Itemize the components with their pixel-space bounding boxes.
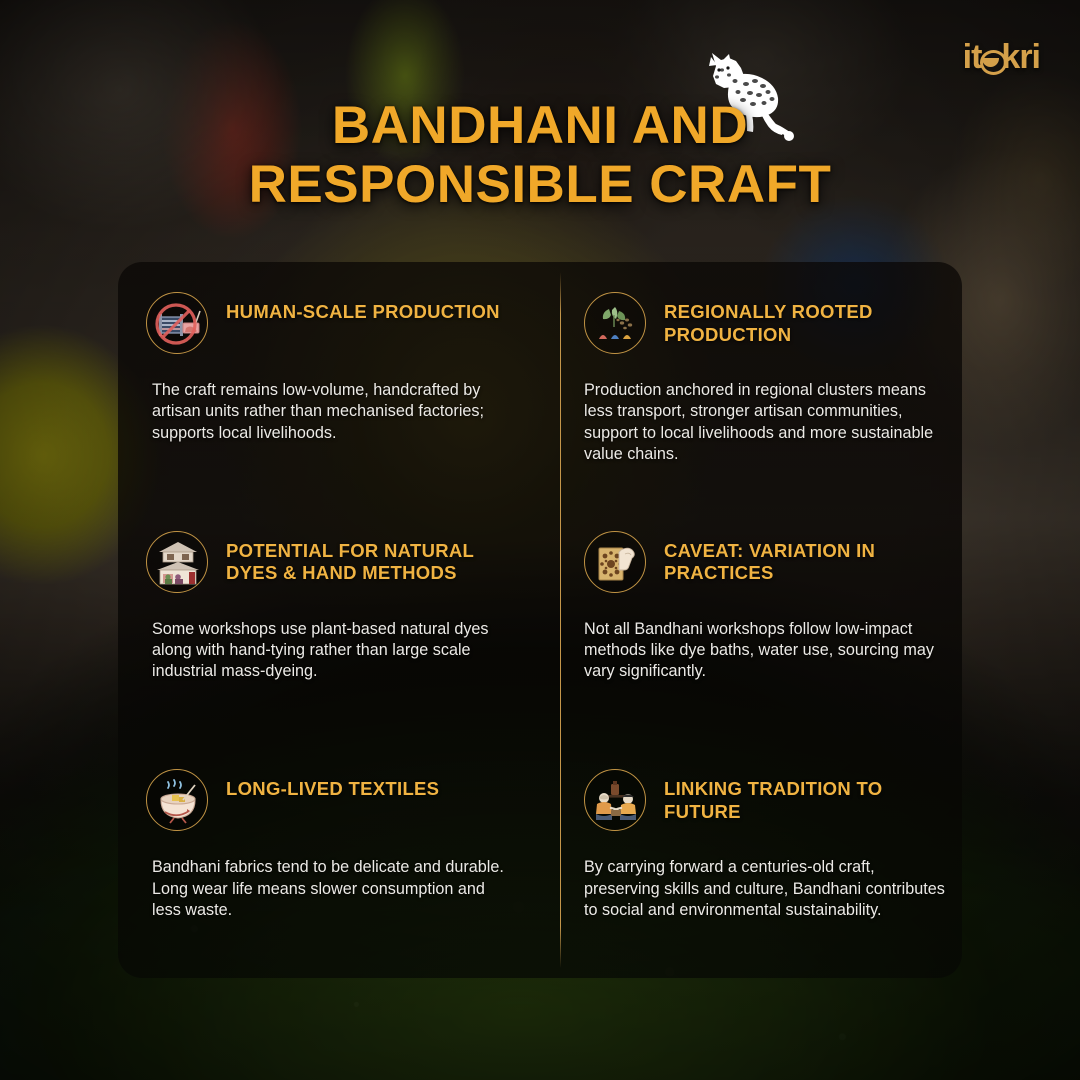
card-title: LONG-LIVED TEXTILES — [226, 769, 439, 801]
card-title: HUMAN-SCALE PRODUCTION — [226, 292, 500, 324]
cards-grid: HUMAN-SCALE PRODUCTION The craft remains… — [118, 262, 962, 978]
card-header: REGIONALLY ROOTED PRODUCTION — [584, 292, 946, 354]
card-title: REGIONALLY ROOTED PRODUCTION — [664, 292, 946, 346]
steaming-dye-pot-icon — [146, 769, 208, 831]
card-caveat-variation-practices: CAVEAT: VARIATION IN PRACTICES Not all B… — [540, 501, 962, 740]
itokri-logo[interactable]: itkri — [963, 40, 1040, 74]
logo-text-after: kri — [1001, 38, 1040, 76]
card-title: LINKING TRADITION TO FUTURE — [664, 769, 946, 823]
card-header: HUMAN-SCALE PRODUCTION — [146, 292, 514, 354]
logo-text-before: it — [963, 38, 982, 76]
card-body: Some workshops use plant-based natural d… — [152, 619, 514, 683]
card-body: Production anchored in regional clusters… — [584, 380, 946, 466]
card-header: CAVEAT: VARIATION IN PRACTICES — [584, 531, 946, 593]
card-body: Not all Bandhani workshops follow low-im… — [584, 619, 946, 683]
card-natural-dyes-hand-methods: POTENTIAL FOR NATURAL DYES & HAND METHOD… — [118, 501, 540, 740]
card-header: LONG-LIVED TEXTILES — [146, 769, 514, 831]
two-artisans-seated-icon — [584, 769, 646, 831]
hand-holding-patterned-fabric-icon — [584, 531, 646, 593]
card-body: The craft remains low-volume, handcrafte… — [152, 380, 514, 444]
card-header: LINKING TRADITION TO FUTURE — [584, 769, 946, 831]
basket-bowl-icon — [980, 48, 1002, 70]
no-machine-loom-icon — [146, 292, 208, 354]
card-body: By carrying forward a centuries-old craf… — [584, 857, 946, 921]
card-long-lived-textiles: LONG-LIVED TEXTILES Bandhani fabrics ten… — [118, 739, 540, 978]
card-linking-tradition-to-future: LINKING TRADITION TO FUTURE By carrying … — [540, 739, 962, 978]
workshop-building-icon — [146, 531, 208, 593]
card-header: POTENTIAL FOR NATURAL DYES & HAND METHOD… — [146, 531, 514, 593]
seedling-dye-mounds-icon — [584, 292, 646, 354]
card-title: CAVEAT: VARIATION IN PRACTICES — [664, 531, 946, 585]
card-human-scale-production: HUMAN-SCALE PRODUCTION The craft remains… — [118, 262, 540, 501]
card-body: Bandhani fabrics tend to be delicate and… — [152, 857, 514, 921]
card-title: POTENTIAL FOR NATURAL DYES & HAND METHOD… — [226, 531, 514, 585]
leopard-graphic-icon — [692, 48, 802, 144]
content-panel: HUMAN-SCALE PRODUCTION The craft remains… — [118, 262, 962, 978]
card-regionally-rooted-production: REGIONALLY ROOTED PRODUCTION Production … — [540, 262, 962, 501]
